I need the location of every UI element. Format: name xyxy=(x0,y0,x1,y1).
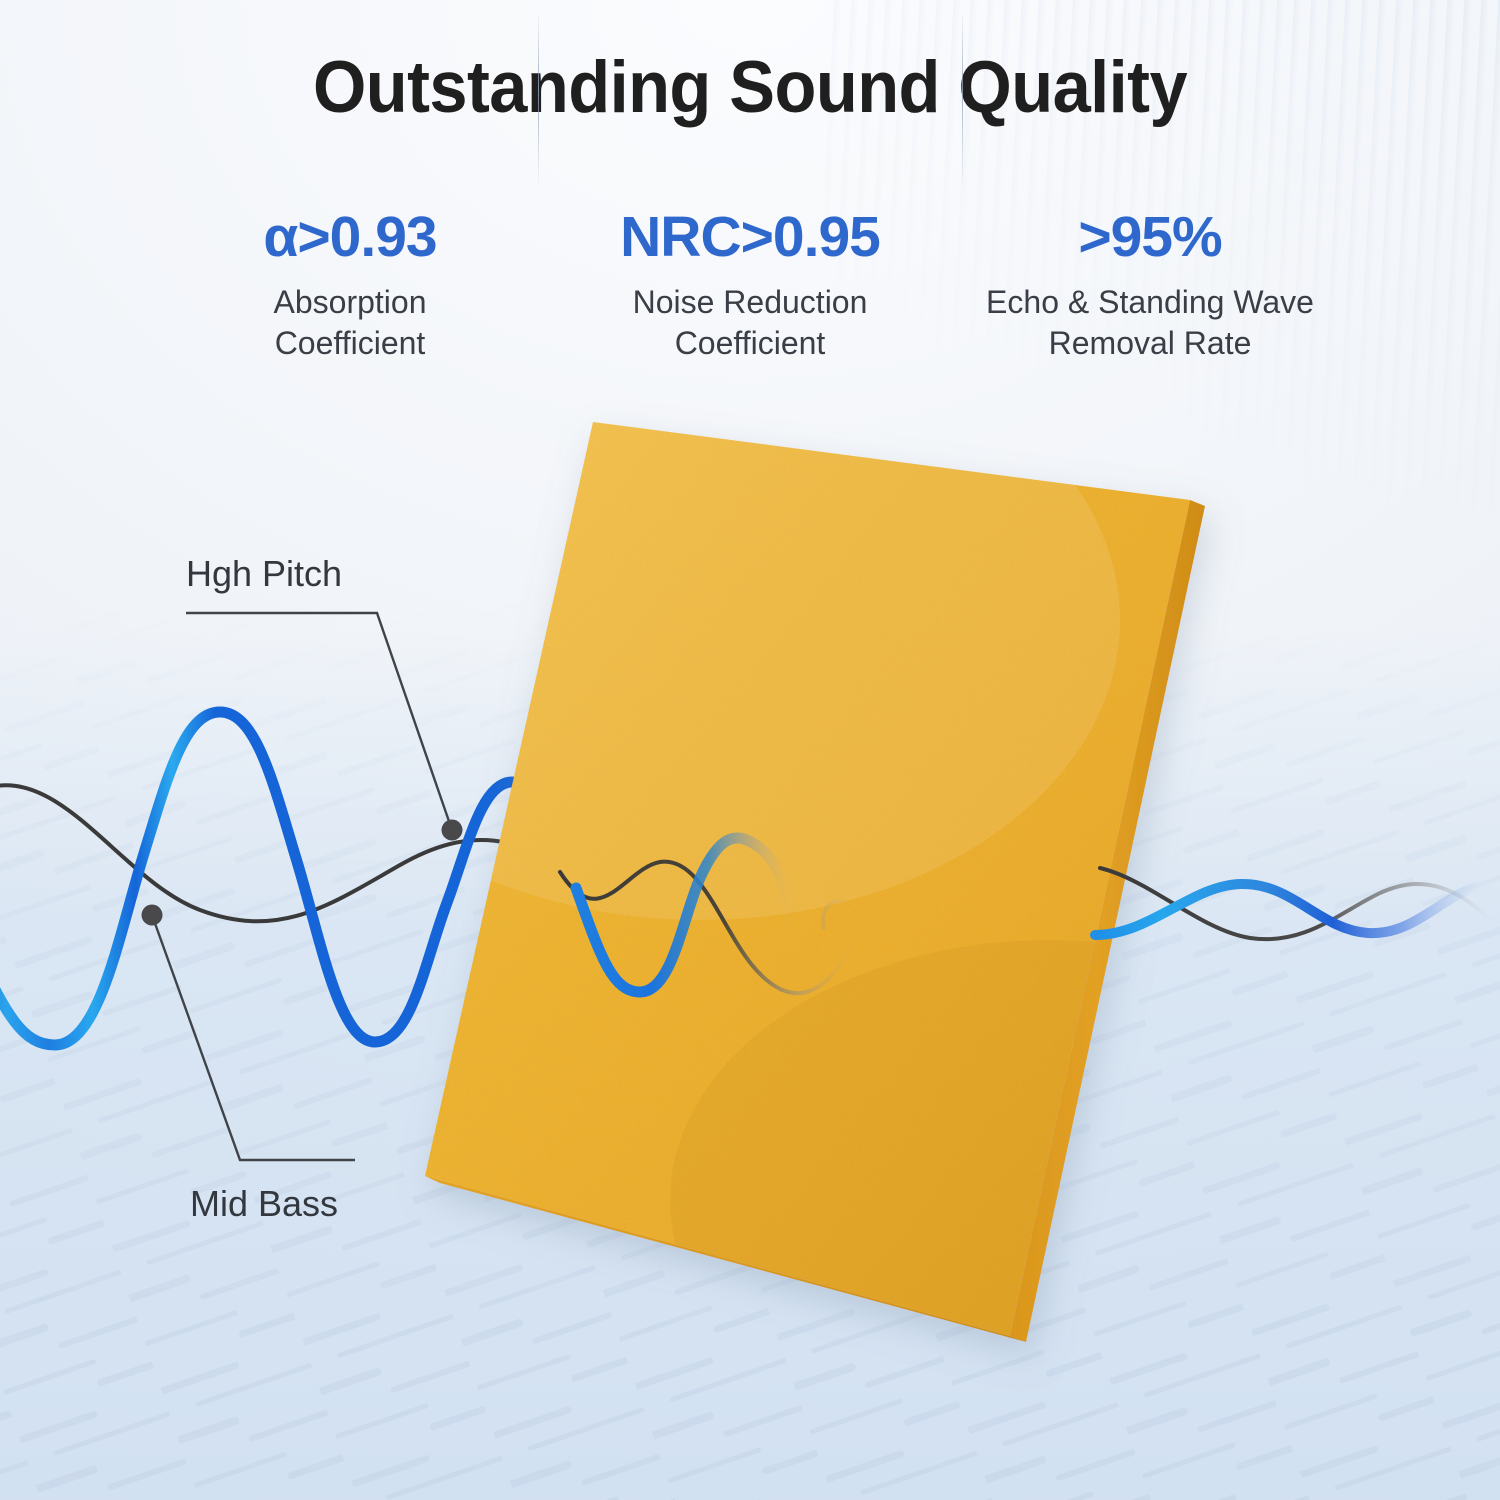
stat-caption-nrc: Noise Reduction Coefficient xyxy=(556,282,944,364)
stat-divider-1 xyxy=(538,10,539,188)
stat-echo-removal-rate: >95% Echo & Standing Wave Removal Rate xyxy=(950,206,1350,364)
stat-absorption-coefficient: α>0.93 Absorption Coefficient xyxy=(150,206,550,364)
stats-row: α>0.93 Absorption Coefficient NRC>0.95 N… xyxy=(150,206,1350,364)
stat-caption-line-2: Removal Rate xyxy=(956,323,1344,364)
stat-caption-line-1: Echo & Standing Wave xyxy=(956,282,1344,323)
callout-label-mid-bass: Mid Bass xyxy=(190,1183,338,1225)
stat-caption-line-2: Coefficient xyxy=(556,323,944,364)
callout-label-high-pitch: Hgh Pitch xyxy=(186,553,342,595)
page-title: Outstanding Sound Quality xyxy=(45,46,1455,129)
stat-caption-line-1: Noise Reduction xyxy=(556,282,944,323)
stat-caption-absorption: Absorption Coefficient xyxy=(156,282,544,364)
stat-noise-reduction-coefficient: NRC>0.95 Noise Reduction Coefficient xyxy=(550,206,950,364)
stat-caption-line-2: Coefficient xyxy=(156,323,544,364)
mid-bass-marker-dot xyxy=(142,905,163,926)
stat-caption-line-1: Absorption xyxy=(156,282,544,323)
stat-divider-2 xyxy=(962,10,963,188)
stat-value-echo: >95% xyxy=(956,206,1344,270)
stat-value-absorption: α>0.93 xyxy=(156,206,544,270)
high-pitch-marker-dot xyxy=(442,820,463,841)
stat-caption-echo: Echo & Standing Wave Removal Rate xyxy=(956,282,1344,364)
stat-value-nrc: NRC>0.95 xyxy=(556,206,944,270)
infographic-canvas: Outstanding Sound Quality α>0.93 Absorpt… xyxy=(0,0,1500,1500)
